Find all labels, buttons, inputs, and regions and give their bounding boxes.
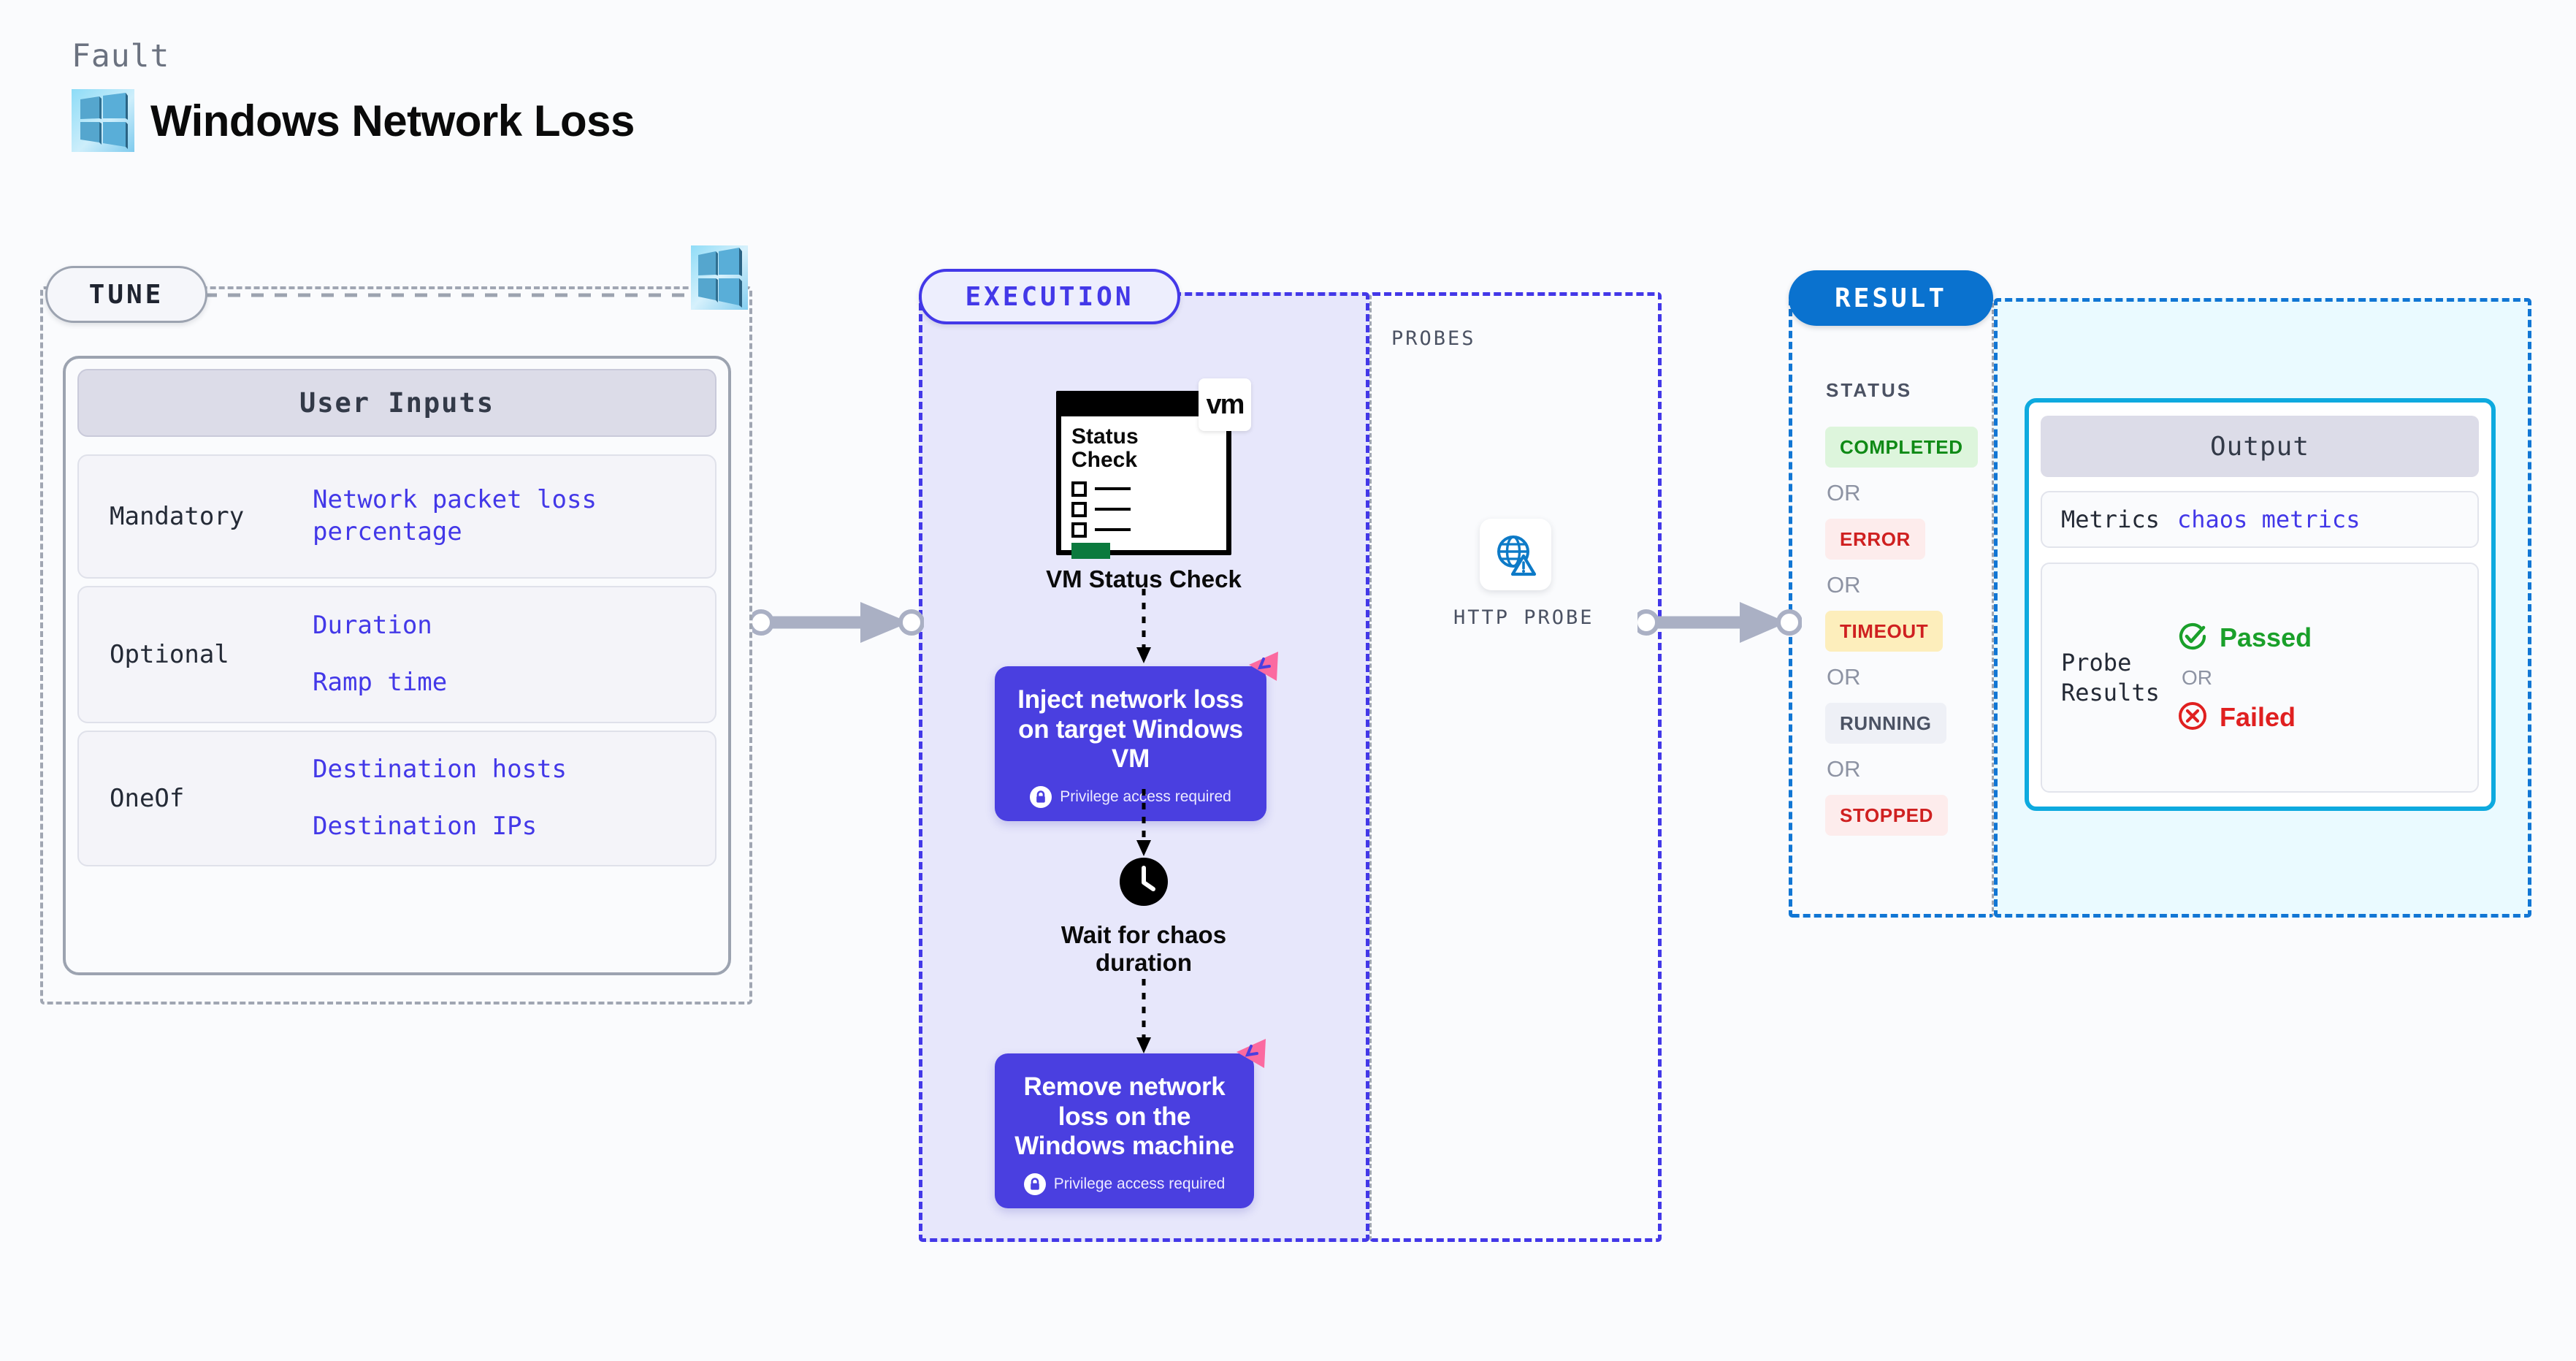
step-note-text: Privilege access required (1054, 1175, 1226, 1193)
probes-label: PROBES (1391, 327, 1476, 350)
user-inputs-title: User Inputs (77, 369, 716, 437)
windows-logo-icon (691, 245, 748, 310)
input-value[interactable]: Duration (313, 610, 715, 642)
diagram-canvas: Fault Windows Network Loss (0, 0, 2576, 1361)
clock-icon (1118, 898, 1169, 910)
execution-pill[interactable]: EXECUTION (919, 269, 1180, 324)
or-separator: OR (1827, 756, 1993, 782)
or-separator: OR (2182, 666, 2477, 690)
input-row-label: Mandatory (79, 502, 313, 531)
probes-region (1369, 292, 1662, 1242)
or-separator: OR (1827, 480, 1993, 506)
vm-status-check-node[interactable]: Status Check vm VM Status Check (1044, 391, 1243, 593)
input-row-values: Destination hosts Destination IPs (313, 754, 715, 842)
input-value[interactable]: Destination IPs (313, 811, 715, 843)
input-value[interactable]: Ramp time (313, 667, 715, 699)
wait-caption: Wait for chaos duration (1055, 921, 1233, 977)
step-note: Privilege access required (1011, 786, 1250, 808)
output-row-probe-results[interactable]: Probe Results Passed OR (2041, 563, 2479, 793)
input-row-optional[interactable]: Optional Duration Ramp time (77, 586, 716, 723)
checklist-icon (1071, 481, 1226, 559)
green-bar-icon (1071, 543, 1110, 559)
input-row-mandatory[interactable]: Mandatory Network packet loss percentage (77, 454, 716, 579)
connector-execution-to-result (1637, 593, 1802, 652)
tune-edge-line (205, 291, 708, 300)
passed-label: Passed (2220, 622, 2312, 653)
status-check-card: Status Check vm (1056, 391, 1231, 555)
status-badge[interactable]: COMPLETED (1825, 427, 1993, 468)
windows-logo-icon (72, 89, 134, 152)
input-value[interactable]: Destination hosts (313, 754, 715, 786)
input-value[interactable]: Network packet loss percentage (313, 484, 715, 548)
tune-pill[interactable]: TUNE (45, 266, 207, 323)
lock-icon (1024, 1173, 1046, 1195)
output-row-values: Passed OR Failed (2177, 621, 2477, 735)
status-badge[interactable]: RUNNING (1825, 703, 1993, 744)
status-badge[interactable]: ERROR (1825, 519, 1993, 560)
output-row-metrics[interactable]: Metrics chaos metrics (2041, 491, 2479, 548)
check-circle-icon (2177, 621, 2208, 655)
probe-result-passed: Passed (2177, 621, 2477, 655)
connector-tune-to-execution (752, 593, 924, 652)
globe-warning-icon (1480, 519, 1551, 590)
input-row-label: OneOf (79, 784, 313, 813)
output-row-label: Probe Results (2042, 648, 2177, 708)
status-badge[interactable]: TIMEOUT (1825, 611, 1993, 652)
execution-step-inject[interactable]: Inject network loss on target Windows VM… (995, 666, 1266, 821)
failed-label: Failed (2220, 702, 2296, 733)
status-label: STATUS (1826, 379, 1912, 402)
lock-icon (1030, 786, 1052, 808)
status-check-line2: Check (1071, 449, 1226, 472)
wait-for-chaos-node[interactable]: Wait for chaos duration (1055, 856, 1233, 977)
metrics-value[interactable]: chaos metrics (2177, 506, 2360, 533)
input-row-values: Duration Ramp time (313, 610, 715, 698)
flow-arrow-2 (1133, 789, 1155, 858)
execution-step-remove[interactable]: Remove network loss on the Windows machi… (995, 1053, 1254, 1208)
probe-result-failed: Failed (2177, 701, 2477, 735)
input-row-oneof[interactable]: OneOf Destination hosts Destination IPs (77, 731, 716, 866)
input-row-values: Network packet loss percentage (313, 484, 715, 548)
probe-caption: HTTP PROBE (1453, 606, 1578, 629)
fault-kicker: Fault (72, 38, 169, 75)
result-pill[interactable]: RESULT (1789, 270, 1993, 326)
litmus-logo-icon (1245, 649, 1283, 690)
x-circle-icon (2177, 701, 2208, 735)
fault-header: Windows Network Loss (72, 89, 635, 152)
flow-arrow-3 (1133, 979, 1155, 1055)
vmware-badge-icon: vm (1199, 378, 1251, 431)
probe-http-node[interactable]: HTTP PROBE (1453, 519, 1578, 629)
or-separator: OR (1827, 664, 1993, 690)
output-row-label: Metrics (2042, 505, 2177, 535)
step-title: Inject network loss on target Windows VM (1011, 685, 1250, 774)
flow-arrow-1 (1133, 589, 1155, 665)
litmus-logo-icon (1232, 1036, 1270, 1078)
step-title: Remove network loss on the Windows machi… (1011, 1072, 1238, 1162)
output-row-values: chaos metrics (2177, 506, 2477, 533)
or-separator: OR (1827, 572, 1993, 598)
status-list: COMPLETED OR ERROR OR TIMEOUT OR RUNNING… (1825, 427, 1993, 836)
status-badge[interactable]: STOPPED (1825, 795, 1993, 836)
card-body: Status Check (1061, 416, 1226, 559)
step-note: Privilege access required (1011, 1173, 1238, 1195)
page-title: Windows Network Loss (150, 96, 635, 146)
input-row-label: Optional (79, 640, 313, 669)
output-title: Output (2041, 416, 2479, 477)
